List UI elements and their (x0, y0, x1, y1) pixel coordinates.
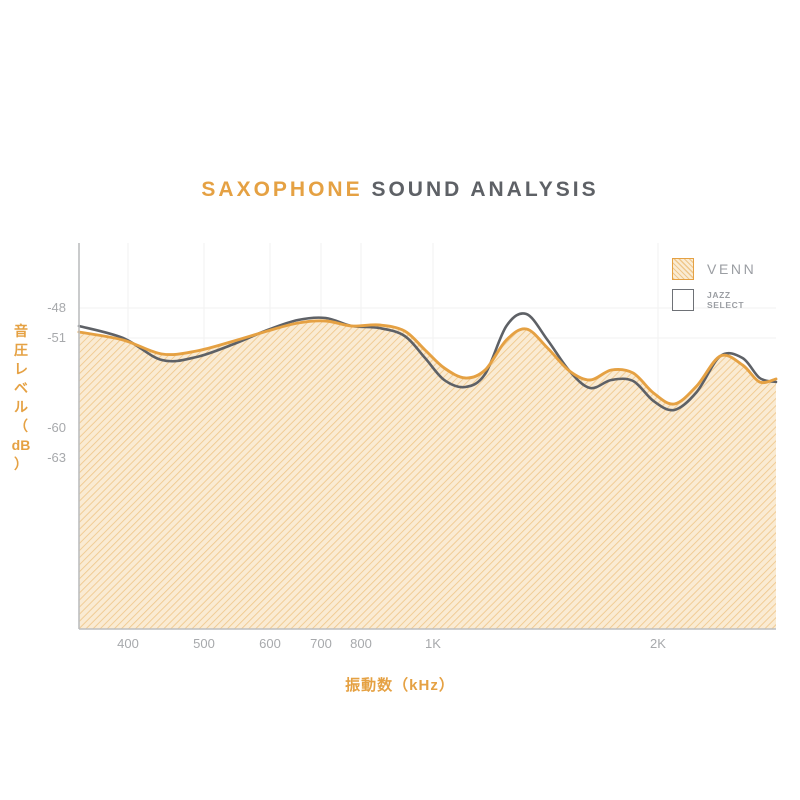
legend-label-jazz-line2: SELECT (707, 300, 744, 310)
y-tick-label: -48 (22, 300, 66, 315)
chart-container: SAXOPHONE SOUND ANALYSIS (0, 0, 800, 800)
y-axis-title-char: レ (6, 360, 36, 379)
venn-area-fill (79, 321, 776, 629)
y-axis-title-char: 圧 (6, 341, 36, 360)
y-axis-title-char: ル (6, 398, 36, 417)
legend-item-venn[interactable]: VENN (672, 258, 792, 280)
y-axis-title-char: （ (6, 417, 36, 436)
y-axis-title-char: ベ (6, 379, 36, 398)
x-axis-title: 振動数（kHz） (0, 674, 800, 695)
y-axis-title-char: 音 (6, 322, 36, 341)
legend-item-jazz-select[interactable]: JAZZ SELECT (672, 289, 792, 311)
x-tick-label: 1K (403, 636, 463, 651)
legend: VENN JAZZ SELECT (672, 258, 792, 320)
y-axis-title-char: ） (6, 455, 36, 474)
legend-label-jazz-select: JAZZ SELECT (707, 290, 744, 310)
legend-label-jazz-line1: JAZZ (707, 290, 744, 300)
legend-swatch-jazz-select (672, 289, 694, 311)
x-tick-label: 800 (331, 636, 391, 651)
y-axis-title-char: dB (6, 436, 36, 455)
y-axis-title: 音 圧 レ ベ ル （ dB ） (6, 322, 36, 474)
legend-label-venn: VENN (707, 261, 756, 277)
legend-swatch-venn (672, 258, 694, 280)
x-tick-label: 400 (98, 636, 158, 651)
x-tick-label: 500 (174, 636, 234, 651)
x-tick-label: 2K (628, 636, 688, 651)
